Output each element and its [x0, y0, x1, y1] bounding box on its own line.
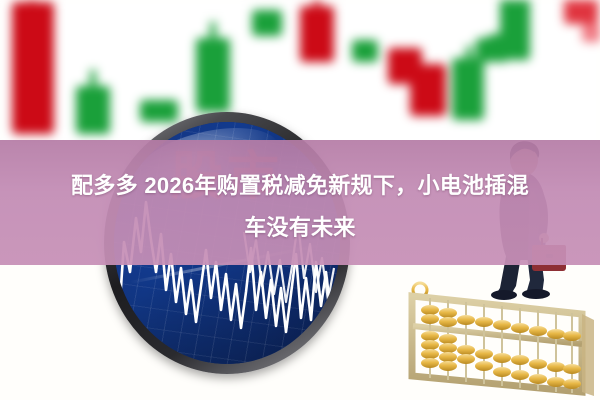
abacus-illustration [404, 280, 600, 400]
abacus-svg [404, 280, 600, 400]
headline-line-1: 配多多 2026年购置税减免新规下，小电池插混 [0, 168, 600, 204]
banner-image: 股市 配多多 2026年购置税减免新规下，小电池插混 车没有未来 [0, 0, 600, 400]
headline-line-2: 车没有未来 [0, 210, 600, 246]
